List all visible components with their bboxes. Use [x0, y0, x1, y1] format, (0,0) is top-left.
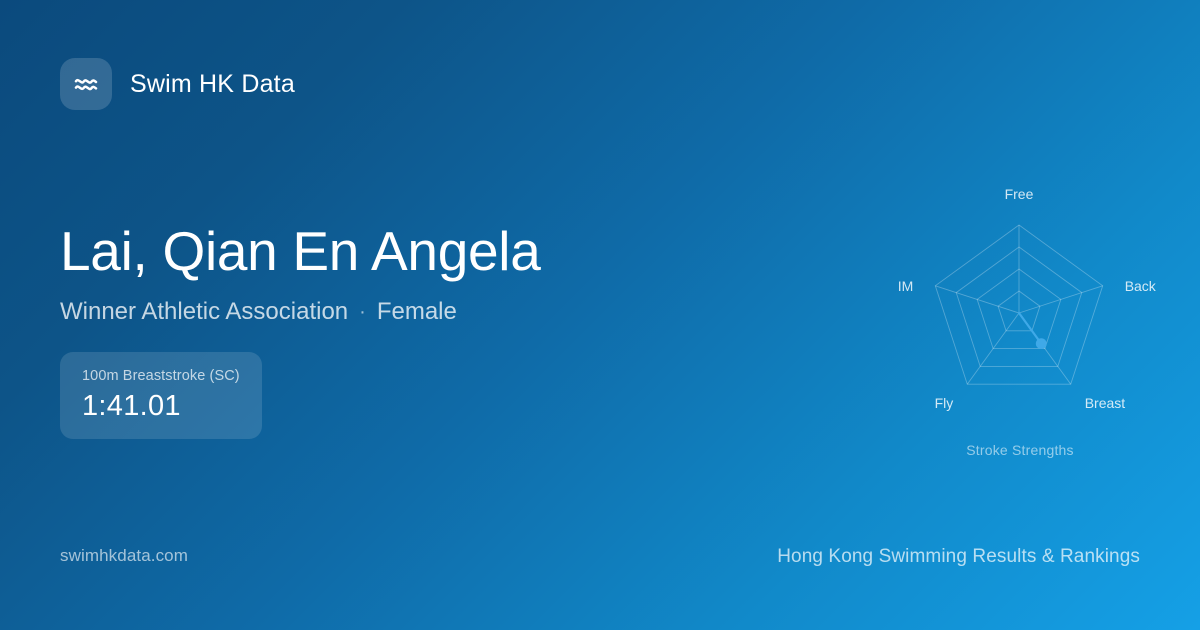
footer-tagline: Hong Kong Swimming Results & Rankings — [777, 546, 1140, 568]
radar-svg: FreeBackBreastFlyIM — [855, 170, 1185, 470]
result-event-label: 100m Breaststroke (SC) — [82, 368, 240, 384]
athlete-club: Winner Athletic Association — [60, 298, 348, 326]
page-title: Lai, Qian En Angela — [60, 222, 700, 281]
stroke-strengths-radar: FreeBackBreastFlyIM Stroke Strengths — [855, 170, 1185, 470]
result-badge: 100m Breaststroke (SC) 1:41.01 — [60, 352, 262, 439]
radar-axis-label-breast: Breast — [1085, 395, 1126, 411]
brand-logo[interactable]: Swim HK Data — [60, 58, 295, 110]
footer-site-url: swimhkdata.com — [60, 546, 188, 566]
brand-name: Swim HK Data — [130, 70, 295, 99]
athlete-header: Lai, Qian En Angela Winner Athletic Asso… — [60, 222, 700, 326]
radar-axis-label-fly: Fly — [935, 395, 954, 411]
result-time-value: 1:41.01 — [82, 391, 240, 421]
athlete-meta: Winner Athletic Association · Female — [60, 298, 700, 326]
athlete-gender: Female — [377, 298, 457, 326]
radar-axis-labels: FreeBackBreastFlyIM — [898, 186, 1157, 411]
radar-caption: Stroke Strengths — [855, 442, 1185, 458]
meta-separator: · — [359, 302, 366, 322]
radar-axis-label-back: Back — [1125, 278, 1157, 294]
radar-axis-label-free: Free — [1005, 186, 1034, 202]
radar-axis-label-im: IM — [898, 278, 914, 294]
wave-icon — [60, 58, 112, 110]
